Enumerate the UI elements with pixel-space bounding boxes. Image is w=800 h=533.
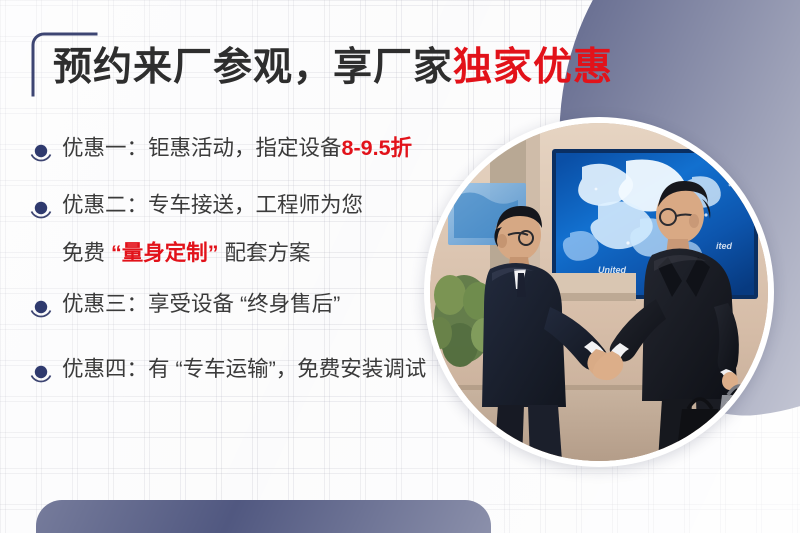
svg-text:ited: ited (716, 241, 733, 251)
list-item-line: 优惠二：专车接送，工程师为您 (62, 195, 498, 217)
dot-arc-bullet-icon (28, 139, 54, 169)
promo-banner: 预约来厂参观，享厂家独家优惠 优惠一：钜惠活动，指定设备8-9.5折 优惠二：专… (0, 0, 800, 533)
dot-arc-bullet-icon (28, 295, 54, 325)
benefit-text: 优惠三：享受设备 “终身售后” (62, 292, 340, 316)
list-item: 优惠一：钜惠活动，指定设备8-9.5折 (28, 138, 498, 169)
benefit-text: 优惠四：有 “专车运输”，免费安装调试 (62, 357, 426, 381)
benefit-text: 优惠二：专车接送，工程师为您 (62, 193, 363, 217)
benefit-highlight: 8-9.5折 (342, 136, 413, 160)
bottom-navy-bar (36, 500, 491, 533)
list-item: 优惠四：有 “专车运输”，免费安装调试 (28, 359, 498, 390)
dot-arc-bullet-icon (28, 360, 54, 390)
list-item-text: 优惠一：钜惠活动，指定设备8-9.5折 (62, 138, 498, 160)
title-highlight-text: 独家优惠 (453, 46, 613, 89)
dot-arc-bullet-icon (28, 196, 54, 226)
title-plain-text: 预约来厂参观，享厂家 (53, 46, 453, 89)
benefit-text: 优惠一：钜惠活动，指定设备 (62, 136, 342, 160)
benefit-text-tail: 配套方案 (219, 241, 311, 265)
handshake-photo-illustration: United ited (430, 123, 768, 461)
handshake-photo-inner: United ited (430, 123, 768, 461)
benefit-highlight: “量身定制” (111, 241, 219, 265)
list-item-line: 优惠一：钜惠活动，指定设备8-9.5折 (62, 138, 498, 160)
handshake-photo: United ited (424, 117, 774, 467)
page-title: 预约来厂参观，享厂家独家优惠 (53, 48, 613, 87)
list-item-line: 优惠四：有 “专车运输”，免费安装调试 (62, 359, 498, 381)
benefit-text: 免费 (62, 241, 111, 265)
list-item-text: 优惠四：有 “专车运输”，免费安装调试 (62, 359, 498, 381)
